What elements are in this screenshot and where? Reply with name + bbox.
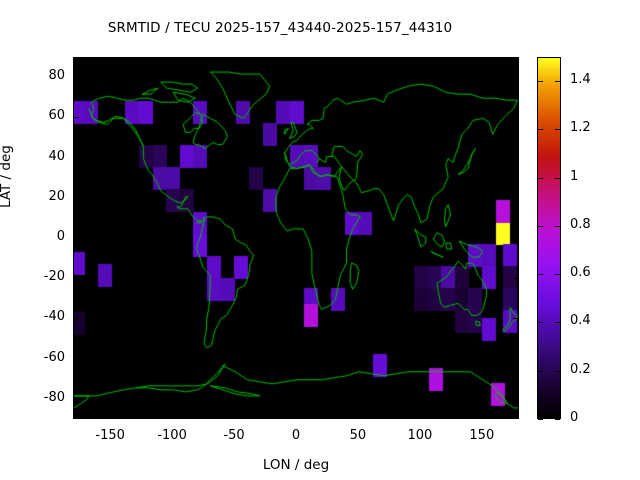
colorbar-tick-mark [555,419,560,420]
x-axis-title: LON / deg [0,457,592,473]
colorbar-tick-mark [538,371,543,372]
colorbar-gradient [538,58,560,418]
y-tick-label: 80 [25,68,65,83]
x-tick-mark [172,413,173,419]
y-axis-title: LAT / deg [0,145,14,208]
colorbar-tick-mark [538,419,543,420]
colorbar-tick-mark [538,178,543,179]
x-tick-label: -50 [204,428,264,443]
y-tick-mark [513,359,519,360]
x-tick-mark [482,57,483,63]
x-tick-label: 0 [266,428,326,443]
y-tick-mark [73,278,79,279]
x-tick-mark [234,413,235,419]
colorbar-tick-mark [538,274,543,275]
colorbar-tick-mark [538,129,543,130]
colorbar-tick-label: 0.6 [570,265,591,280]
x-tick-mark [296,57,297,63]
y-tick-mark [513,117,519,118]
y-tick-label: -20 [25,269,65,284]
y-tick-mark [513,198,519,199]
y-tick-label: -60 [25,350,65,365]
y-tick-label: -80 [25,390,65,405]
y-tick-mark [73,198,79,199]
colorbar-tick-label: 1 [570,169,578,184]
x-tick-mark [296,413,297,419]
y-tick-label: 40 [25,149,65,164]
colorbar-tick-mark [555,322,560,323]
colorbar-tick-mark [538,226,543,227]
y-tick-mark [73,359,79,360]
colorbar-tick-label: 1.4 [570,72,591,87]
x-tick-mark [482,413,483,419]
y-tick-mark [513,399,519,400]
x-tick-label: -100 [142,428,202,443]
x-tick-mark [358,413,359,419]
chart-title: SRMTID / TECU 2025-157_43440-2025-157_44… [0,20,560,36]
x-tick-label: 150 [452,428,512,443]
colorbar-tick-mark [555,178,560,179]
y-tick-label: 60 [25,108,65,123]
y-tick-mark [73,238,79,239]
coastline-overlay [74,58,518,418]
x-tick-mark [234,57,235,63]
x-tick-mark [420,57,421,63]
y-tick-mark [513,238,519,239]
colorbar-tick-mark [555,274,560,275]
colorbar-tick-mark [555,81,560,82]
y-tick-mark [73,77,79,78]
x-tick-mark [420,413,421,419]
y-tick-mark [513,77,519,78]
colorbar-tick-mark [538,322,543,323]
colorbar-tick-label: 0 [570,410,578,425]
colorbar-tick-mark [538,81,543,82]
x-tick-label: 50 [328,428,388,443]
y-tick-mark [73,318,79,319]
plot-area[interactable] [73,57,519,419]
y-tick-mark [513,278,519,279]
colorbar-tick-label: 0.4 [570,313,591,328]
x-tick-mark [110,413,111,419]
colorbar-tick-mark [555,226,560,227]
y-tick-mark [513,158,519,159]
colorbar[interactable] [537,57,561,419]
x-tick-mark [110,57,111,63]
colorbar-tick-mark [555,371,560,372]
y-tick-label: 0 [25,229,65,244]
y-tick-mark [73,158,79,159]
y-tick-label: 20 [25,189,65,204]
colorbar-tick-mark [555,129,560,130]
y-tick-label: -40 [25,309,65,324]
colorbar-tick-label: 0.2 [570,362,591,377]
plot-inner [74,58,518,418]
colorbar-tick-label: 1.2 [570,120,591,135]
y-tick-mark [73,117,79,118]
x-tick-label: 100 [390,428,450,443]
x-tick-mark [358,57,359,63]
x-tick-mark [172,57,173,63]
x-tick-label: -150 [80,428,140,443]
colorbar-tick-label: 0.8 [570,217,591,232]
y-tick-mark [513,318,519,319]
y-tick-mark [73,399,79,400]
